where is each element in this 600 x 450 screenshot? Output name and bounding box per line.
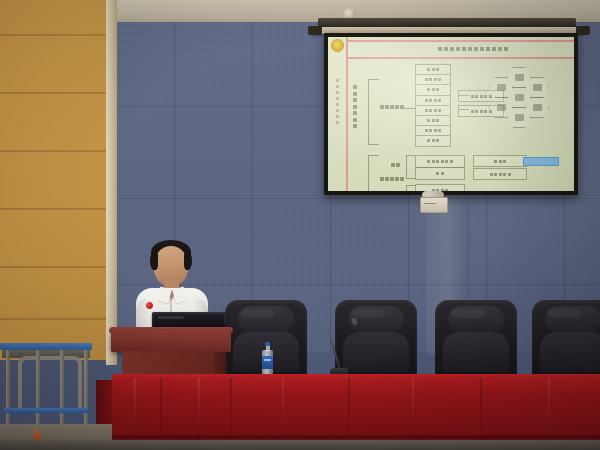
- wall-mounted-device: [420, 197, 448, 213]
- slide-label-sub-a: [391, 163, 400, 167]
- projection-screen: [324, 33, 578, 195]
- list-item: [415, 84, 451, 94]
- slide-lower-box-3: [415, 184, 465, 191]
- slide-seal-icon: [331, 39, 344, 52]
- slide-label-upper: [380, 105, 404, 109]
- list-item: [415, 135, 451, 146]
- student-chair-back: [18, 356, 82, 410]
- housing-end-cap-right: [576, 26, 590, 35]
- student-desk-top: [0, 343, 92, 350]
- desk-rail: [4, 408, 88, 413]
- slide-brace-sub-b: [406, 185, 415, 191]
- slide-rule-vertical: [346, 37, 348, 191]
- slide-brace-upper: [368, 79, 379, 145]
- slide-vertical-heading: [353, 85, 357, 128]
- slide-connector-1: [403, 108, 415, 109]
- slide-rule-top: [346, 40, 574, 42]
- list-item: [415, 74, 451, 84]
- slide-note-box-1: [473, 155, 527, 167]
- slide-item-list: [415, 64, 451, 147]
- slide-brace-sub-a: [406, 155, 415, 179]
- slide-label-lower: [380, 177, 404, 181]
- list-item: [415, 125, 451, 135]
- list-item: [415, 64, 451, 74]
- slide-honeycomb-diagram: [468, 59, 568, 135]
- slide-highlight-chip: [523, 157, 559, 166]
- table-cloth-hem: [112, 435, 600, 439]
- slide-side-annotation: [336, 79, 339, 124]
- floor: [0, 440, 600, 450]
- chair-4: [532, 300, 600, 378]
- wall-corner-edge: [106, 0, 117, 365]
- slide-note-box-2: [473, 168, 527, 180]
- podium-desk-surface: [111, 330, 231, 352]
- left-wall: [0, 0, 112, 360]
- photo-scene: [0, 0, 600, 450]
- list-item: [415, 95, 451, 105]
- list-item: [415, 105, 451, 115]
- screen-surface: [328, 37, 574, 191]
- slide-title: [388, 44, 558, 53]
- slide-lower-box-2: [415, 167, 465, 180]
- chair-3: [435, 300, 517, 378]
- housing-end-cap-left: [308, 26, 322, 35]
- slide-brace-lower: [368, 155, 379, 191]
- list-item: [415, 115, 451, 125]
- water-bottle: [262, 342, 273, 378]
- chair-2: [335, 300, 417, 378]
